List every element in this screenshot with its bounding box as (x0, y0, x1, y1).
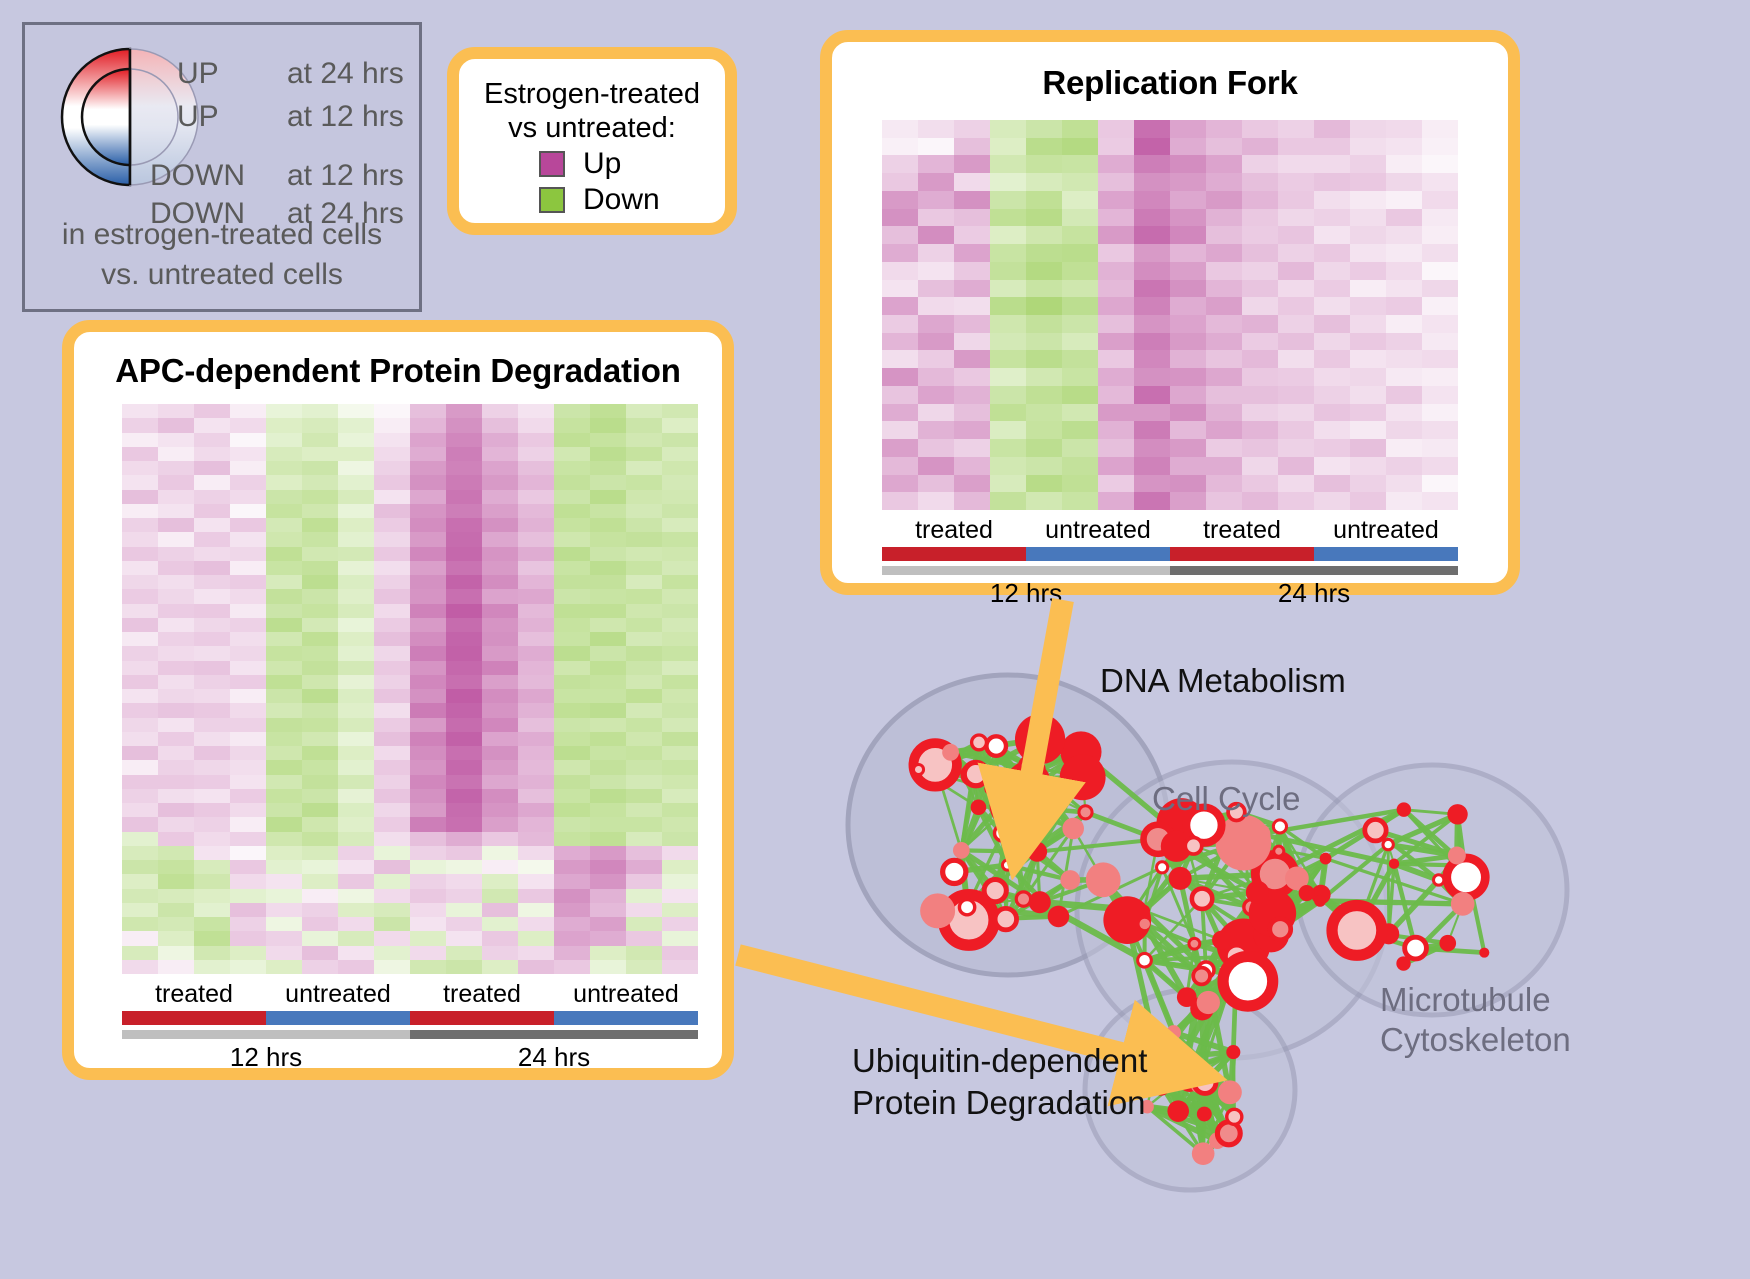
heatmap-cell (1026, 333, 1062, 351)
heatmap-cell (662, 931, 698, 945)
cluster-label-microtubule-cytoskeleton: Microtubule Cytoskeleton (1380, 980, 1571, 1060)
network-node (990, 785, 1032, 827)
heatmap-cell (338, 817, 374, 831)
heatmap-cell (1386, 280, 1422, 298)
heatmap-cell (446, 889, 482, 903)
heatmap-cell (374, 931, 410, 945)
heatmap-cell (1386, 492, 1422, 510)
network-node (1062, 818, 1084, 840)
heatmap-cell (158, 860, 194, 874)
heatmap-cell (122, 547, 158, 561)
heatmap-cell (590, 504, 626, 518)
network-node (1157, 862, 1168, 873)
heatmap-cell (1134, 173, 1170, 191)
heatmap-cell (626, 675, 662, 689)
heatmap-cell (882, 120, 918, 138)
group-labels-row: treated untreated treated untreated (122, 980, 698, 1009)
heatmap-cell (338, 518, 374, 532)
heatmap-cell (990, 244, 1026, 262)
heatmap-cell (374, 860, 410, 874)
heatmap-cell (1206, 404, 1242, 422)
heatmap-cell (518, 703, 554, 717)
heatmap-cell (302, 803, 338, 817)
heatmap-cell (302, 589, 338, 603)
heatmap-cell (230, 433, 266, 447)
heatmap-cell (230, 475, 266, 489)
heatmap-cell (482, 874, 518, 888)
heatmap-cell (410, 632, 446, 646)
heatmap-cell (1134, 350, 1170, 368)
heatmap-cell (410, 618, 446, 632)
heatmap-cell (338, 447, 374, 461)
up-swatch-icon (539, 151, 565, 177)
heatmap-cell (1026, 492, 1062, 510)
heatmap-cell (1098, 439, 1134, 457)
heatmap-cell (990, 368, 1026, 386)
heatmap-cell (410, 803, 446, 817)
heatmap-cell (882, 421, 918, 439)
heatmap-cell (482, 931, 518, 945)
heatmap-cell (230, 960, 266, 974)
heatmap-cell (266, 931, 302, 945)
heatmap-cell (410, 746, 446, 760)
heatmap-cell (122, 604, 158, 618)
heatmap-cell (626, 917, 662, 931)
network-node (1020, 757, 1037, 774)
gbar-seg-24hrs (1170, 566, 1458, 575)
heatmap-cell (194, 447, 230, 461)
heatmap-cell (1242, 120, 1278, 138)
network-node (1147, 1047, 1170, 1070)
heatmap-cell (1278, 191, 1314, 209)
heatmap-cell (1314, 155, 1350, 173)
heatmap-cell (338, 604, 374, 618)
heatmap-cell (194, 589, 230, 603)
network-node (1138, 953, 1152, 967)
heatmap-cell (882, 191, 918, 209)
heatmap-cell (122, 903, 158, 917)
heatmap-cell (626, 789, 662, 803)
network-node (943, 860, 966, 883)
heatmap-cell (122, 732, 158, 746)
heatmap-cell (410, 760, 446, 774)
group-label-3: untreated (554, 980, 698, 1009)
heatmap-cell (1242, 386, 1278, 404)
heatmap-cell (1278, 350, 1314, 368)
heatmap-cell (482, 946, 518, 960)
network-node (1197, 1107, 1212, 1122)
heatmap-cell (1026, 191, 1062, 209)
heatmap-cell (266, 575, 302, 589)
heatmap-cell (1206, 368, 1242, 386)
heatmap-cell (158, 632, 194, 646)
heatmap-cell (918, 280, 954, 298)
heatmap-cell (1422, 280, 1458, 298)
heatmap-cell (590, 561, 626, 575)
heatmap-cell (158, 418, 194, 432)
heatmap-cell (1422, 333, 1458, 351)
heatmap-cell (302, 504, 338, 518)
heatmap-cell (626, 703, 662, 717)
heatmap-cell (954, 439, 990, 457)
heatmap-cell (158, 775, 194, 789)
heatmap-cell (122, 931, 158, 945)
heatmap-cell (266, 746, 302, 760)
network-node (1029, 891, 1051, 913)
heatmap-cell (554, 518, 590, 532)
heatmap-cell (1026, 350, 1062, 368)
cluster-label-ubiquitin-degradation: Ubiquitin-dependent Protein Degradation (852, 1040, 1147, 1124)
heatmap-cell (230, 789, 266, 803)
heatmap-cell (1422, 368, 1458, 386)
heatmap-cell (1170, 280, 1206, 298)
heatmap-cell (554, 461, 590, 475)
heatmap-cell (410, 518, 446, 532)
heatmap-cell (122, 532, 158, 546)
heatmap-cell (1278, 368, 1314, 386)
heatmap-cell (302, 575, 338, 589)
heatmap-cell (518, 817, 554, 831)
heatmap-cell (122, 433, 158, 447)
heatmap-cell (590, 946, 626, 960)
heatmap-cell (158, 889, 194, 903)
heatmap-cell (626, 561, 662, 575)
heatmap-cell (338, 960, 374, 974)
heatmap-cell (518, 917, 554, 931)
heatmap-cell (1170, 333, 1206, 351)
heatmap-cell (338, 846, 374, 860)
heatmap-cell (1422, 226, 1458, 244)
heatmap-cell (194, 646, 230, 660)
heatmap-cell (882, 280, 918, 298)
heatmap-cell (1350, 297, 1386, 315)
heatmap-cell (590, 604, 626, 618)
heatmap-cell (1422, 120, 1458, 138)
heatmap-cell (482, 775, 518, 789)
heatmap-cell (1242, 421, 1278, 439)
heatmap-cell (158, 817, 194, 831)
heatmap-cell (1386, 120, 1422, 138)
heatmap-cell (446, 618, 482, 632)
cluster-label-cell-cycle: Cell Cycle (1152, 780, 1301, 818)
heatmap-cell (1206, 244, 1242, 262)
bar-seg-treated-24 (410, 1011, 554, 1025)
heatmap-cell (1206, 173, 1242, 191)
heatmap-cell (410, 404, 446, 418)
heatmap-cell (1350, 120, 1386, 138)
heatmap-cell (266, 718, 302, 732)
heatmap-cell (518, 760, 554, 774)
heatmap-cell (302, 903, 338, 917)
heatmap-cell (1026, 244, 1062, 262)
heatmap-cell (158, 461, 194, 475)
group-label-2: treated (410, 980, 554, 1009)
heatmap-cell (918, 404, 954, 422)
heatmap-cell (374, 832, 410, 846)
heatmap-cell (482, 632, 518, 646)
heatmap-cell (990, 404, 1026, 422)
heatmap-cell (662, 475, 698, 489)
heatmap-cell (122, 689, 158, 703)
heatmap-cell (230, 874, 266, 888)
network-node (913, 764, 923, 774)
heatmap-cell (446, 789, 482, 803)
heatmap-cell (1242, 368, 1278, 386)
heatmap-cell (302, 718, 338, 732)
heatmap-cell (194, 461, 230, 475)
heatmap-cell (374, 632, 410, 646)
network-node (971, 799, 987, 815)
heatmap-cell (882, 386, 918, 404)
heatmap-cell (230, 860, 266, 874)
heatmap-cell (918, 350, 954, 368)
network-node (1249, 824, 1270, 845)
heatmap-cell (122, 760, 158, 774)
heatmap-cell (554, 732, 590, 746)
heatmap-cell (1350, 386, 1386, 404)
heatmap-cell (410, 561, 446, 575)
heatmap-cell (1170, 439, 1206, 457)
heatmap-cell (158, 532, 194, 546)
heatmap-cell (1278, 209, 1314, 227)
heatmap-cell (338, 575, 374, 589)
heatmap-cell (482, 746, 518, 760)
heatmap-cell (626, 632, 662, 646)
heatmap-cell (1026, 386, 1062, 404)
heatmap-cell (266, 404, 302, 418)
heatmap-cell (482, 504, 518, 518)
heatmap-cell (410, 646, 446, 660)
heatmap-cell (230, 632, 266, 646)
heatmap-cell (410, 903, 446, 917)
heatmap-cell (482, 889, 518, 903)
heatmap-cell (230, 889, 266, 903)
heatmap-cell (1242, 226, 1278, 244)
heatmap-cell (302, 661, 338, 675)
network-node (1246, 881, 1269, 904)
heatmap-cell (1422, 155, 1458, 173)
heatmap-cell (918, 386, 954, 404)
heatmap-cell (158, 661, 194, 675)
heatmap-cell (590, 575, 626, 589)
heatmap-cell (230, 832, 266, 846)
heatmap-cell (482, 960, 518, 974)
heatmap-cell (302, 689, 338, 703)
network-node (1189, 938, 1200, 949)
heatmap-cell (518, 404, 554, 418)
heatmap-cell (1098, 173, 1134, 191)
heatmap-cell (482, 461, 518, 475)
heatmap-cell (1242, 209, 1278, 227)
key-time-1: at 12 hrs (287, 100, 404, 133)
heatmap-cell (990, 492, 1026, 510)
group-label-1: untreated (266, 980, 410, 1009)
heatmap-cell (1134, 333, 1170, 351)
heatmap-cell (1098, 350, 1134, 368)
heatmap-cell (590, 518, 626, 532)
heatmap-cell (230, 447, 266, 461)
legend-item-down: Down (539, 183, 725, 217)
heatmap-cell (590, 775, 626, 789)
heatmap-cell (1206, 333, 1242, 351)
heatmap-cell (518, 490, 554, 504)
heatmap-cell (554, 960, 590, 974)
network-node (1332, 906, 1382, 956)
bar-seg-treated-12 (882, 547, 1026, 561)
heatmap-cell (158, 874, 194, 888)
heatmap-cell (1098, 333, 1134, 351)
heatmap-cell (1278, 386, 1314, 404)
heatmap-cell (230, 817, 266, 831)
heatmap-cell (554, 931, 590, 945)
heatmap-cell (338, 661, 374, 675)
heatmap-cell (302, 518, 338, 532)
heatmap-cell (482, 518, 518, 532)
heatmap-cell (230, 732, 266, 746)
heatmap-cell (194, 689, 230, 703)
network-node (1060, 870, 1080, 890)
heatmap-cell (446, 917, 482, 931)
heatmap-cell (266, 960, 302, 974)
heatmap-cell (122, 718, 158, 732)
network-node (1439, 935, 1456, 952)
heatmap-cell (1026, 457, 1062, 475)
heatmap-cell (302, 675, 338, 689)
heatmap-cell (158, 646, 194, 660)
replication-fork-axis: treated untreated treated untreated 12 h… (882, 516, 1458, 609)
heatmap-cell (662, 575, 698, 589)
heatmap-cell (590, 418, 626, 432)
heatmap-cell (1278, 333, 1314, 351)
heatmap-cell (158, 404, 194, 418)
heatmap-cell (518, 874, 554, 888)
heatmap-cell (194, 760, 230, 774)
heatmap-cell (410, 475, 446, 489)
heatmap-cell (1170, 262, 1206, 280)
heatmap-cell (374, 547, 410, 561)
heatmap-cell (1242, 350, 1278, 368)
heatmap-cell (266, 518, 302, 532)
heatmap-cell (194, 946, 230, 960)
heatmap-cell (482, 689, 518, 703)
heatmap-cell (122, 661, 158, 675)
network-node (1193, 968, 1210, 985)
heatmap-cell (1170, 492, 1206, 510)
heatmap-cell (266, 604, 302, 618)
heatmap-cell (590, 433, 626, 447)
heatmap-cell (626, 490, 662, 504)
heatmap-cell (1206, 457, 1242, 475)
network-node (1166, 1025, 1181, 1040)
heatmap-cell (626, 604, 662, 618)
heatmap-cell (954, 155, 990, 173)
heatmap-cell (446, 675, 482, 689)
heatmap-cell (158, 803, 194, 817)
heatmap-cell (302, 632, 338, 646)
heatmap-cell (1134, 280, 1170, 298)
heatmap-cell (518, 504, 554, 518)
heatmap-cell (1062, 368, 1098, 386)
heatmap-cell (626, 718, 662, 732)
heatmap-cell (1422, 191, 1458, 209)
heatmap-cell (1422, 457, 1458, 475)
network-node (1365, 820, 1386, 841)
heatmap-cell (882, 209, 918, 227)
heatmap-cell (122, 703, 158, 717)
heatmap-cell (1386, 155, 1422, 173)
heatmap-cell (590, 746, 626, 760)
heatmap-cell (554, 718, 590, 732)
heatmap-cell (338, 675, 374, 689)
heatmap-cell (122, 775, 158, 789)
heatmap-cell (1098, 244, 1134, 262)
heatmap-cell (1206, 120, 1242, 138)
heatmap-cell (662, 604, 698, 618)
heatmap-cell (302, 418, 338, 432)
heatmap-cell (374, 917, 410, 931)
heatmap-cell (302, 946, 338, 960)
heatmap-cell (990, 262, 1026, 280)
heatmap-cell (1170, 368, 1206, 386)
heatmap-cell (1314, 350, 1350, 368)
heatmap-cell (626, 846, 662, 860)
heatmap-cell (230, 775, 266, 789)
heatmap-cell (954, 475, 990, 493)
heatmap-cell (626, 618, 662, 632)
heatmap-cell (1386, 404, 1422, 422)
heatmap-cell (954, 315, 990, 333)
heatmap-cell (230, 661, 266, 675)
heatmap-cell (662, 803, 698, 817)
heatmap-cell (518, 689, 554, 703)
heatmap-cell (266, 946, 302, 960)
heatmap-cell (374, 575, 410, 589)
heatmap-cell (158, 547, 194, 561)
group-label-0: treated (882, 516, 1026, 545)
heatmap-cell (1242, 191, 1278, 209)
heatmap-cell (990, 475, 1026, 493)
heatmap-cell (1278, 262, 1314, 280)
heatmap-cell (1062, 333, 1098, 351)
heatmap-cell (1134, 191, 1170, 209)
heatmap-cell (590, 917, 626, 931)
heatmap-cell (338, 689, 374, 703)
heatmap-cell (554, 760, 590, 774)
heatmap-cell (266, 461, 302, 475)
heatmap-cell (626, 817, 662, 831)
network-node (1299, 885, 1315, 901)
heatmap-cell (338, 461, 374, 475)
heatmap-cell (1314, 421, 1350, 439)
heatmap-cell (1062, 262, 1098, 280)
heatmap-cell (990, 333, 1026, 351)
heatmap-cell (194, 518, 230, 532)
heatmap-cell (1350, 209, 1386, 227)
heatmap-cell (266, 803, 302, 817)
heatmap-cell (158, 946, 194, 960)
heatmap-cell (1350, 368, 1386, 386)
heatmap-cell (1350, 333, 1386, 351)
heatmap-cell (518, 931, 554, 945)
heatmap-cell (1170, 421, 1206, 439)
heatmap-cell (518, 889, 554, 903)
heatmap-cell (1422, 421, 1458, 439)
heatmap-cell (122, 917, 158, 931)
heatmap-cell (1386, 315, 1422, 333)
heatmap-cell (1314, 333, 1350, 351)
heatmap-cell (590, 618, 626, 632)
heatmap-cell (266, 889, 302, 903)
